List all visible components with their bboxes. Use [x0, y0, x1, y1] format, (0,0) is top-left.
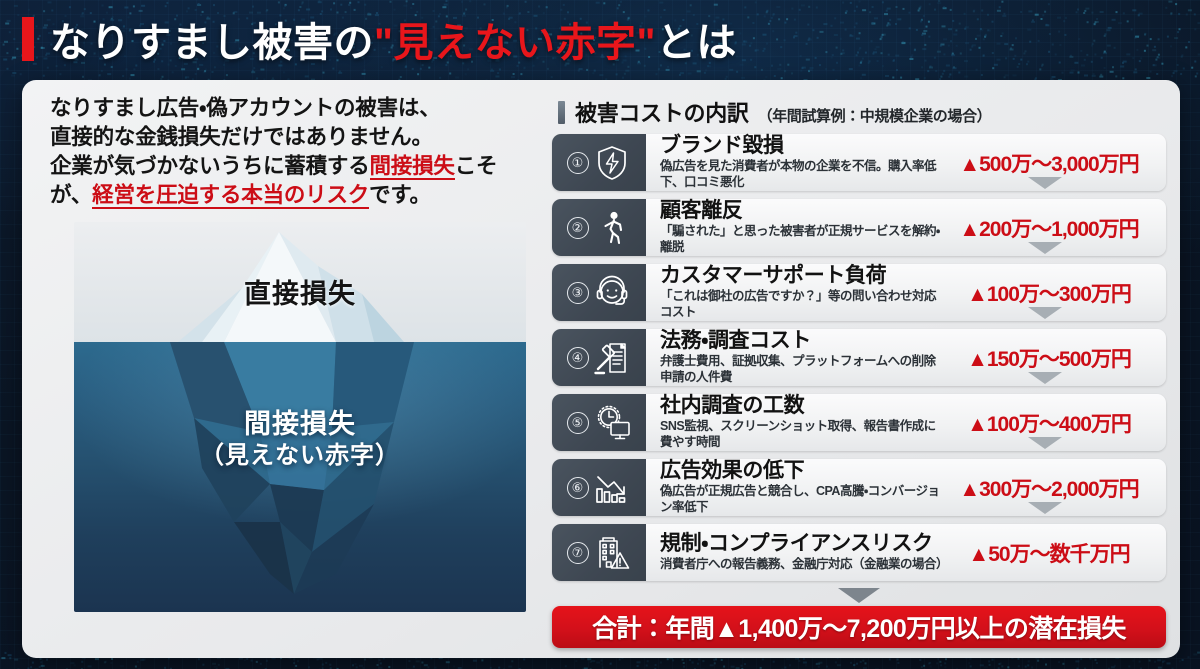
- title-accent-bar: [22, 17, 34, 61]
- headset-support-icon: [592, 273, 632, 313]
- cost-row-description: 偽広告が正規広告と競合し、CPA高騰・コンバージョン率低下: [660, 484, 944, 515]
- cost-row-number: ②: [567, 217, 589, 239]
- cost-row-texts: 社内調査の工数SNS監視、スクリーンショット取得、報告書作成に費やす時間: [660, 394, 944, 450]
- cost-row-description: 弁護士費用、証拠収集、プラットフォームへの削除申請の人件費: [660, 354, 944, 385]
- declining-chart-icon: [592, 468, 632, 508]
- cost-row-title: 広告効果の低下: [660, 459, 944, 482]
- cost-row-body: 広告効果の低下偽広告が正規広告と競合し、CPA高騰・コンバージョン率低下▲300…: [646, 459, 1166, 516]
- intro-emphasis-indirect-loss: 間接損失: [370, 154, 455, 180]
- intro-line-3a: 企業が気づかないうちに蓄積する: [50, 154, 370, 178]
- cost-row-description: 「騙された」と思った被害者が正規サービスを解約・離脱: [660, 224, 944, 255]
- cost-breakdown-header: 被害コストの内訳 （年間試算例：中規模企業の場合）: [552, 92, 1166, 134]
- cost-row[interactable]: ②顧客離反「騙された」と思った被害者が正規サービスを解約・離脱▲200万〜1,0…: [552, 199, 1166, 256]
- cost-row-description: SNS監視、スクリーンショット取得、報告書作成に費やす時間: [660, 419, 944, 450]
- cost-breakdown-title: 被害コストの内訳: [575, 96, 749, 128]
- cost-row-body: 規制・コンプライアンスリスク消費者庁への報告義務、金融庁対応（金融業の場合）▲5…: [646, 524, 1166, 581]
- cost-row-amount: ▲100万〜400万円: [944, 408, 1160, 438]
- cost-row-title: 規制・コンプライアンスリスク: [660, 532, 944, 555]
- cost-row-texts: 広告効果の低下偽広告が正規広告と競合し、CPA高騰・コンバージョン率低下: [660, 459, 944, 515]
- intro-line-1: なりすまし広告・偽アカウントの被害は、: [50, 96, 441, 120]
- shield-crack-icon: [592, 143, 632, 183]
- cost-row-title: 社内調査の工数: [660, 394, 944, 417]
- page-title: なりすまし被害の"見えない赤字"とは: [50, 10, 737, 68]
- cost-row-number: ⑦: [567, 542, 589, 564]
- intro-paragraph: なりすまし広告・偽アカウントの被害は、 直接的な金銭損失だけではありません。 企…: [36, 92, 538, 210]
- cost-row-number: ①: [567, 152, 589, 174]
- cost-row-description: 偽広告を見た消費者が本物の企業を不信。購入率低下、口コミ悪化: [660, 159, 944, 190]
- cost-row-down-arrow-icon: [1028, 242, 1062, 254]
- cost-row-down-arrow-icon: [1028, 372, 1062, 384]
- total-arrow-icon: [838, 588, 880, 603]
- cost-row[interactable]: ⑤社内調査の工数SNS監視、スクリーンショット取得、報告書作成に費やす時間▲10…: [552, 394, 1166, 451]
- cost-row-amount: ▲50万〜数千万円: [944, 538, 1160, 568]
- total-loss-bar: 合計：年間▲1,400万〜7,200万円以上の潜在損失: [552, 606, 1166, 648]
- main-panel: なりすまし広告・偽アカウントの被害は、 直接的な金銭損失だけではありません。 企…: [22, 80, 1180, 658]
- left-column: なりすまし広告・偽アカウントの被害は、 直接的な金銭損失だけではありません。 企…: [36, 92, 546, 648]
- cost-row-texts: カスタマーサポート負荷「これは御社の広告ですか？」等の問い合わせ対応コスト: [660, 264, 944, 320]
- cost-row-amount: ▲500万〜3,000万円: [944, 148, 1160, 178]
- clock-monitor-icon: [592, 403, 632, 443]
- cost-rows-list: ①ブランド毀損偽広告を見た消費者が本物の企業を不信。購入率低下、口コミ悪化▲50…: [552, 134, 1166, 589]
- cost-row-down-arrow-icon: [1028, 502, 1062, 514]
- right-column: 被害コストの内訳 （年間試算例：中規模企業の場合） ①ブランド毀損偽広告を見た消…: [546, 92, 1166, 648]
- cost-row-texts: 法務・調査コスト弁護士費用、証拠収集、プラットフォームへの削除申請の人件費: [660, 329, 944, 385]
- cost-row[interactable]: ④法務・調査コスト弁護士費用、証拠収集、プラットフォームへの削除申請の人件費▲1…: [552, 329, 1166, 386]
- cost-row-body: 法務・調査コスト弁護士費用、証拠収集、プラットフォームへの削除申請の人件費▲15…: [646, 329, 1166, 386]
- intro-line-4b: です。: [369, 183, 431, 207]
- intro-line-2: 直接的な金銭損失だけではありません。: [50, 125, 433, 149]
- cost-row-amount: ▲150万〜500万円: [944, 343, 1160, 373]
- iceberg-label-indirect-sub: （見えない赤字）: [74, 441, 526, 471]
- page-title-highlight: "見えない赤字": [374, 21, 656, 65]
- cost-row[interactable]: ⑥広告効果の低下偽広告が正規広告と競合し、CPA高騰・コンバージョン率低下▲30…: [552, 459, 1166, 516]
- intro-line-4a: が、: [50, 183, 92, 207]
- cost-row-badge: ③: [552, 264, 646, 321]
- cost-row[interactable]: ⑦規制・コンプライアンスリスク消費者庁への報告義務、金融庁対応（金融業の場合）▲…: [552, 524, 1166, 581]
- cost-row-number: ⑥: [567, 477, 589, 499]
- cost-row-amount: ▲200万〜1,000万円: [944, 213, 1160, 243]
- cost-row-number: ④: [567, 347, 589, 369]
- cost-row-title: 顧客離反: [660, 199, 944, 222]
- iceberg-label-indirect-main: 間接損失: [244, 409, 356, 439]
- intro-line-3b: こそ: [455, 154, 498, 178]
- cost-row-texts: 規制・コンプライアンスリスク消費者庁への報告義務、金融庁対応（金融業の場合）: [660, 532, 944, 573]
- cost-row-texts: 顧客離反「騙された」と思った被害者が正規サービスを解約・離脱: [660, 199, 944, 255]
- cost-row-body: 社内調査の工数SNS監視、スクリーンショット取得、報告書作成に費やす時間▲100…: [646, 394, 1166, 451]
- total-loss-text: 合計：年間▲1,400万〜7,200万円以上の潜在損失: [592, 609, 1126, 645]
- cost-row-body: 顧客離反「騙された」と思った被害者が正規サービスを解約・離脱▲200万〜1,00…: [646, 199, 1166, 256]
- section-accent-bar: [558, 101, 565, 124]
- cost-row-body: ブランド毀損偽広告を見た消費者が本物の企業を不信。購入率低下、口コミ悪化▲500…: [646, 134, 1166, 191]
- cost-row-description: 消費者庁への報告義務、金融庁対応（金融業の場合）: [660, 557, 944, 573]
- cost-row-number: ③: [567, 282, 589, 304]
- cost-row-amount: ▲300万〜2,000万円: [944, 473, 1160, 503]
- page-title-after: とは: [656, 21, 737, 65]
- cost-row-title: 法務・調査コスト: [660, 329, 944, 352]
- iceberg-label-indirect-loss: 間接損失 （見えない赤字）: [74, 408, 526, 472]
- cost-row[interactable]: ③カスタマーサポート負荷「これは御社の広告ですか？」等の問い合わせ対応コスト▲1…: [552, 264, 1166, 321]
- cost-row-badge: ⑥: [552, 459, 646, 516]
- cost-row-badge: ⑤: [552, 394, 646, 451]
- cost-row-badge: ④: [552, 329, 646, 386]
- cost-row-description: 「これは御社の広告ですか？」等の問い合わせ対応コスト: [660, 289, 944, 320]
- iceberg-label-direct-loss: 直接損失: [74, 272, 526, 311]
- cost-row-number: ⑤: [567, 412, 589, 434]
- cost-row-badge: ②: [552, 199, 646, 256]
- cost-row-down-arrow-icon: [1028, 177, 1062, 189]
- cost-row-texts: ブランド毀損偽広告を見た消費者が本物の企業を不信。購入率低下、口コミ悪化: [660, 134, 944, 190]
- cost-row-amount: ▲100万〜300万円: [944, 278, 1160, 308]
- cost-row-badge: ①: [552, 134, 646, 191]
- building-warning-icon: [592, 533, 632, 573]
- cost-row-down-arrow-icon: [1028, 437, 1062, 449]
- cost-row-title: ブランド毀損: [660, 134, 944, 157]
- cost-row-badge: ⑦: [552, 524, 646, 581]
- gavel-document-icon: [592, 338, 632, 378]
- iceberg-illustration: 直接損失 間接損失 （見えない赤字）: [74, 222, 526, 612]
- cost-row-body: カスタマーサポート負荷「これは御社の広告ですか？」等の問い合わせ対応コスト▲10…: [646, 264, 1166, 321]
- page-title-before: なりすまし被害の: [50, 21, 374, 65]
- cost-breakdown-note: （年間試算例：中規模企業の場合）: [758, 105, 992, 126]
- page-title-row: なりすまし被害の"見えない赤字"とは: [22, 8, 737, 70]
- cost-row-title: カスタマーサポート負荷: [660, 264, 944, 287]
- cost-row-down-arrow-icon: [1028, 307, 1062, 319]
- intro-emphasis-real-risk: 経営を圧迫する本当のリスク: [92, 183, 369, 209]
- walking-person-icon: [592, 208, 632, 248]
- cost-row[interactable]: ①ブランド毀損偽広告を見た消費者が本物の企業を不信。購入率低下、口コミ悪化▲50…: [552, 134, 1166, 191]
